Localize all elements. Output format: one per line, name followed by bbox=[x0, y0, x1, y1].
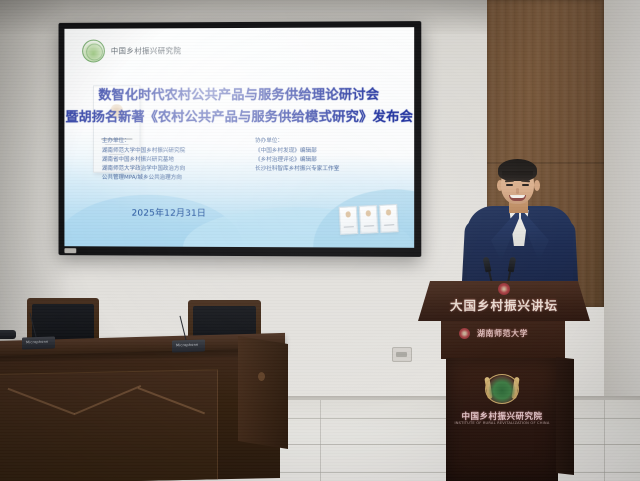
organizer-item: 湖南师范大学政治学中国政治方向 bbox=[102, 165, 221, 174]
wall-power-socket bbox=[392, 347, 412, 362]
conference-room-photo: 中国乡村振兴研究院 数智化时代农村公共产品与服务供给理论研讨会 暨胡扬名新著《农… bbox=[0, 0, 640, 481]
screen-indicator bbox=[64, 248, 76, 253]
table-chevron-inlay bbox=[8, 383, 208, 419]
slide-date: 2025年12月31日 bbox=[132, 206, 207, 219]
podium-top: 大国乡村振兴讲坛 bbox=[418, 281, 590, 321]
podium-neck: 湖南师范大学 bbox=[441, 321, 565, 359]
organizer-item: 长沙社科智库乡村振兴专家工作室 bbox=[255, 165, 376, 174]
floor-seam bbox=[320, 400, 321, 481]
podium-banner-text: 大国乡村振兴讲坛 bbox=[418, 295, 590, 314]
speaker-ear bbox=[534, 180, 540, 191]
podium-body: 中国乡村振兴研究院 INSTITUTE OF RURAL REVITALIZAT… bbox=[446, 358, 558, 481]
organizer-item: 公共管理MPA/城乡公共治理方向 bbox=[102, 174, 221, 183]
slide-logo-label: 中国乡村振兴研究院 bbox=[111, 45, 181, 56]
slide-title-line-1: 数智化时代农村公共产品与服务供给理论研讨会 bbox=[64, 84, 414, 104]
projection-screen-surface: 中国乡村振兴研究院 数智化时代农村公共产品与服务供给理论研讨会 暨胡扬名新著《农… bbox=[64, 27, 414, 248]
speaker-hair bbox=[498, 159, 537, 181]
institute-crest-icon bbox=[485, 374, 519, 404]
organizer-item: 《乡村治理评论》编辑部 bbox=[255, 156, 376, 165]
desk-telephone[interactable] bbox=[0, 330, 16, 339]
podium-institute-subtext: INSTITUTE OF RURAL REVITALIZATION OF CHI… bbox=[446, 421, 558, 425]
conference-table-side bbox=[238, 336, 288, 449]
podium-top-emblem-icon bbox=[498, 283, 510, 295]
wall-right-edge bbox=[604, 0, 640, 420]
organizer-heading: 主办单位： bbox=[102, 136, 221, 144]
projection-screen[interactable]: 中国乡村振兴研究院 数智化时代农村公共产品与服务供给理论研讨会 暨胡扬名新著《农… bbox=[59, 21, 422, 257]
organizer-item: 《中国乡村发现》编辑部 bbox=[255, 147, 376, 156]
institute-seal-icon bbox=[82, 40, 105, 63]
desk-microphone[interactable]: Microphone bbox=[172, 339, 205, 352]
slide-organizers: 主办单位： 湖南师范大学中国乡村振兴研究院 湖南省中国乡村振兴研究基地 湖南师范… bbox=[64, 136, 414, 184]
desk-microphone-label: Microphone bbox=[176, 343, 198, 348]
speaker-nose bbox=[516, 188, 519, 194]
table-knob bbox=[258, 372, 265, 381]
organizer-heading: 协办单位： bbox=[255, 136, 376, 144]
slide-organizer-column-host: 主办单位： 湖南师范大学中国乡村振兴研究院 湖南省中国乡村振兴研究基地 湖南师范… bbox=[102, 136, 221, 183]
organizer-item: 湖南省中国乡村振兴研究基地 bbox=[102, 156, 221, 165]
floor-seam bbox=[604, 400, 605, 481]
university-seal-icon bbox=[459, 328, 470, 339]
decor-book-icon bbox=[339, 206, 359, 235]
desk-microphone[interactable]: Microphone bbox=[22, 336, 55, 349]
slide-decor-books bbox=[339, 204, 399, 235]
desk-microphone-label: Microphone bbox=[26, 340, 48, 345]
slide-organizer-column-cohost: 协办单位： 《中国乡村发现》编辑部 《乡村治理评论》编辑部 长沙社科智库乡村振兴… bbox=[255, 136, 376, 184]
decor-book-icon bbox=[359, 205, 379, 234]
organizer-item: 湖南师范大学中国乡村振兴研究院 bbox=[102, 146, 221, 155]
decor-book-icon bbox=[379, 204, 399, 233]
slide-title-line-2: 暨胡扬名新著《农村公共产品与服务供给模式研究》发布会 bbox=[64, 106, 414, 125]
podium-body-side bbox=[556, 357, 574, 475]
slide-logo: 中国乡村振兴研究院 bbox=[82, 39, 181, 62]
podium-university-text: 湖南师范大学 bbox=[477, 328, 528, 339]
